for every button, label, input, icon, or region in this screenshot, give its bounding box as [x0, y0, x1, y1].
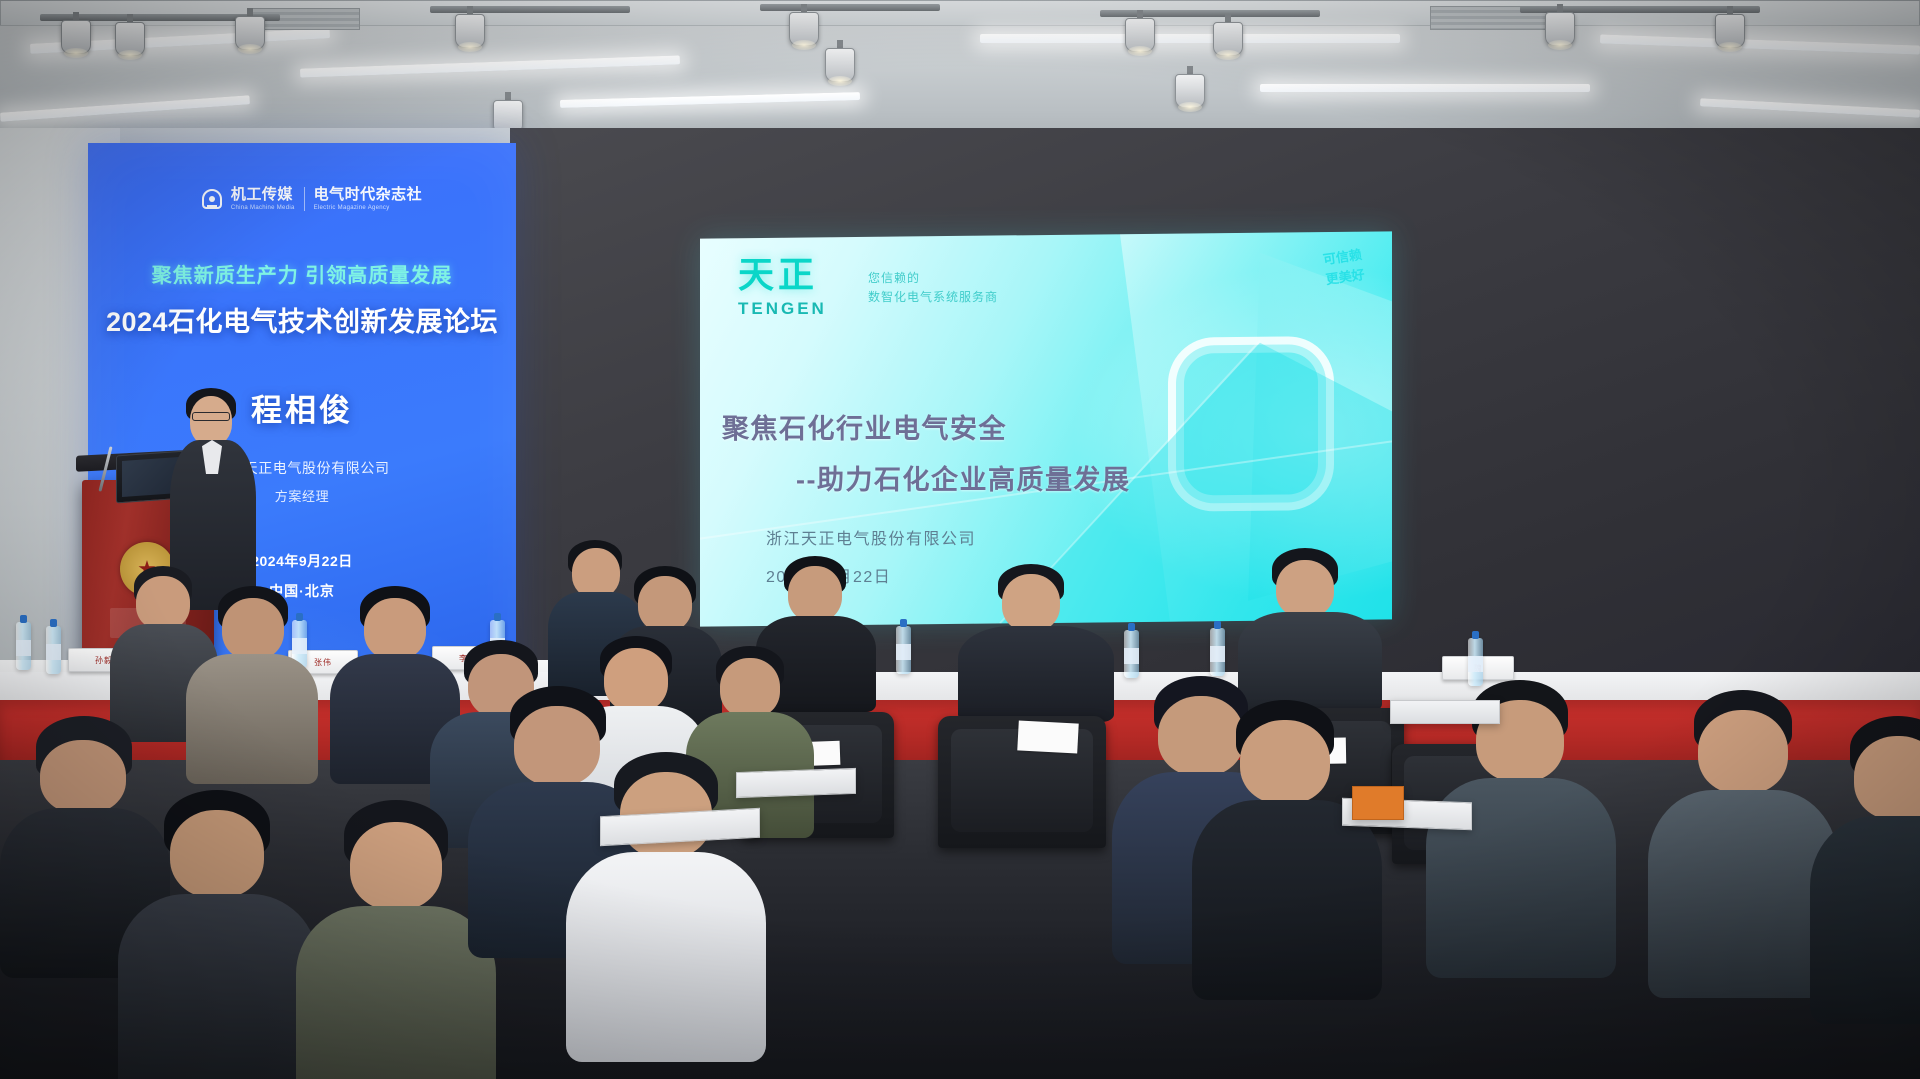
logo-divider: [304, 187, 305, 211]
water-bottle-icon: [46, 626, 61, 674]
audience-head: [170, 810, 264, 898]
tengen-brand-en: TENGEN: [738, 299, 827, 319]
paper-sheet: [1017, 720, 1078, 753]
spotlight-icon: [1210, 14, 1246, 60]
audience-body: [186, 654, 318, 784]
slide-headline: 聚焦石化行业电气安全 --助力石化企业高质量发展: [722, 407, 1362, 497]
slide-headline-line2: --助力石化企业高质量发展: [796, 458, 1362, 497]
water-bottle-icon: [16, 622, 31, 670]
water-bottle-icon: [1124, 630, 1139, 678]
slide-organization: 浙江天正电气股份有限公司: [766, 525, 976, 549]
slide-corner-slogan: 可信赖 更美好: [1242, 245, 1371, 333]
media-logo-secondary-cn: 电气时代杂志社: [314, 187, 423, 203]
audience-body: [1810, 816, 1920, 1024]
tengen-logo: 天正 TENGEN: [738, 257, 827, 319]
panelist-head: [1276, 560, 1334, 618]
media-logo-secondary-en: Electric Magazine Agency: [314, 205, 423, 211]
audience-body: [296, 906, 496, 1079]
spotlight-icon: [1122, 10, 1158, 56]
spotlight-icon: [1172, 66, 1208, 112]
tengen-brand-cn: 天正: [738, 257, 827, 293]
audience-head: [350, 822, 442, 910]
media-logo-primary-en: China Machine Media: [231, 205, 295, 211]
audience-head: [1240, 720, 1330, 804]
water-bottle-icon: [1210, 628, 1225, 676]
ceiling-light-strip: [980, 34, 1400, 43]
event-subtitle: 聚焦新质生产力 引领高质量发展: [88, 259, 516, 288]
audience-head: [40, 740, 126, 814]
water-bottle-icon: [1468, 638, 1483, 686]
panelist-body: [958, 626, 1114, 722]
audience-head: [364, 598, 426, 660]
media-logo-primary-cn: 机工传媒: [231, 187, 295, 203]
spotlight-icon: [58, 12, 94, 58]
speaker-glasses-icon: [192, 412, 230, 421]
panelist-person: [958, 564, 1114, 712]
speaker-head: [190, 396, 232, 446]
conference-room-scene: 机工传媒 China Machine Media 电气时代杂志社 Electri…: [0, 0, 1920, 1079]
desk: [736, 768, 856, 798]
ceiling-light-strip: [1260, 84, 1590, 92]
spotlight-icon: [1542, 4, 1578, 50]
audience-head: [1698, 710, 1788, 794]
panelist-head: [1002, 574, 1060, 632]
speaker-name: 程相俊: [88, 385, 516, 430]
panelist-head: [788, 566, 842, 622]
tengen-slogan: 您信赖的 数智化电气系统服务商: [868, 269, 998, 306]
orange-folder: [1352, 786, 1404, 820]
spotlight-icon: [822, 40, 858, 86]
audience-head: [136, 576, 190, 630]
spotlight-icon: [1712, 6, 1748, 52]
tengen-slogan-line2: 数智化电气系统服务商: [868, 288, 998, 307]
audience-body: [1192, 800, 1382, 1000]
audience-person: [1192, 700, 1382, 990]
audience-body: [566, 852, 766, 1062]
audience-head: [1854, 736, 1920, 820]
audience-head: [638, 576, 692, 632]
slide-headline-line1: 聚焦石化行业电气安全: [722, 407, 1362, 446]
audience-person: [296, 800, 496, 1079]
spotlight-icon: [232, 8, 268, 54]
spotlight-icon: [786, 4, 822, 50]
spotlight-icon: [452, 6, 488, 52]
audience-head: [720, 658, 780, 718]
audience-head: [222, 598, 284, 660]
tengen-slogan-line1: 您信赖的: [868, 269, 998, 288]
audience-person: [186, 586, 318, 776]
audience-person: [118, 790, 318, 1079]
media-logo: 机工传媒 China Machine Media 电气时代杂志社 Electri…: [98, 187, 516, 211]
audience-body: [118, 894, 318, 1079]
spotlight-icon: [112, 14, 148, 60]
water-bottle-icon: [896, 626, 911, 674]
desk: [1390, 700, 1500, 724]
audience-person: [1810, 716, 1920, 1016]
china-machine-media-mark-icon: [202, 189, 222, 209]
event-title: 2024石化电气技术创新发展论坛: [88, 300, 516, 339]
